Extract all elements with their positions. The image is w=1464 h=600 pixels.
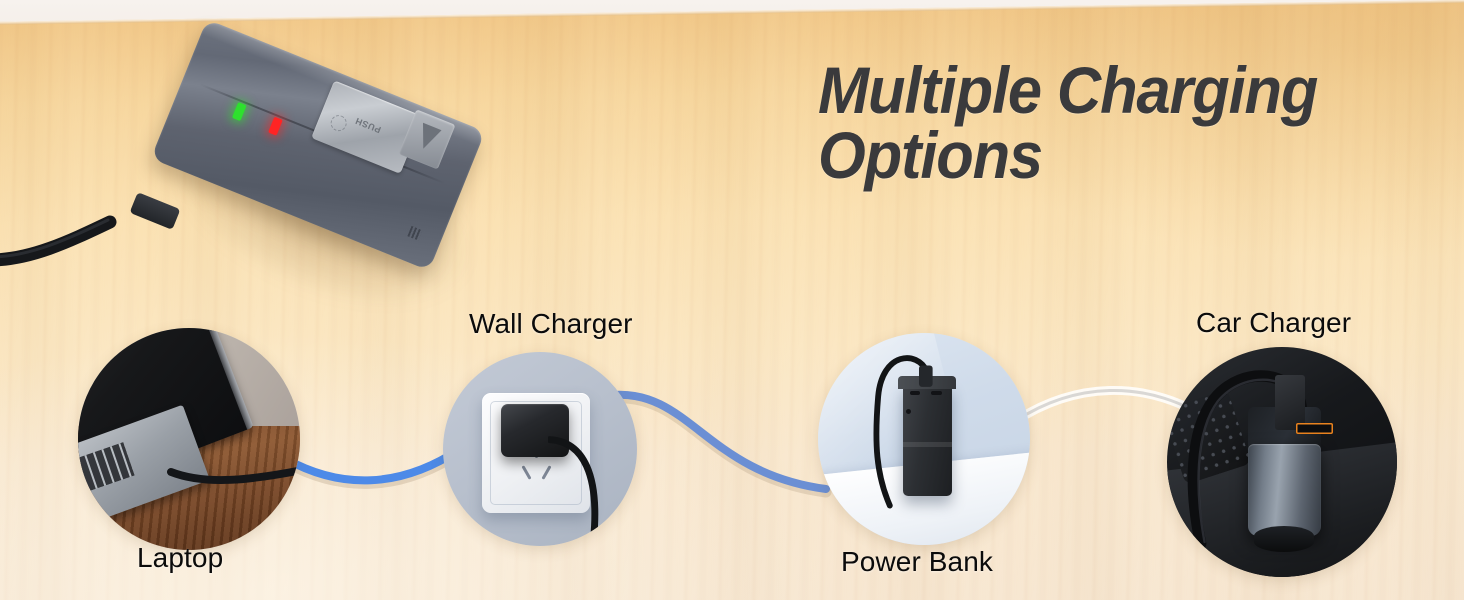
callout-label-car-charger: Car Charger xyxy=(1196,307,1351,339)
laptop-keyboard xyxy=(78,442,135,511)
callout-wall-charger[interactable] xyxy=(443,352,637,546)
callout-label-power-bank: Power Bank xyxy=(841,546,993,578)
wall-charger-cable xyxy=(548,430,637,543)
push-clip: PUSH xyxy=(311,80,423,173)
headline-line-2: Options xyxy=(818,123,1376,188)
callout-power-bank[interactable] xyxy=(818,333,1030,545)
push-label: PUSH xyxy=(354,115,383,134)
car-charger-base xyxy=(1254,526,1314,551)
power-bank-cable xyxy=(856,346,945,511)
car-charger-barrel xyxy=(1248,444,1322,536)
clip-ring-icon xyxy=(328,112,349,133)
car-charger-plug xyxy=(1275,375,1305,430)
green-led xyxy=(232,102,247,121)
callout-label-laptop: Laptop xyxy=(137,542,223,574)
promo-banner: Multiple Charging Options PUSH xyxy=(0,0,1464,600)
car-charger-usb-port xyxy=(1296,423,1333,435)
callout-laptop[interactable] xyxy=(78,328,300,550)
laptop-cable xyxy=(167,452,300,492)
page-title: Multiple Charging Options xyxy=(818,58,1376,187)
product-device: PUSH xyxy=(130,48,510,298)
headline-line-1: Multiple Charging xyxy=(818,53,1317,127)
callout-label-wall-charger: Wall Charger xyxy=(469,308,633,340)
vent-grille-icon xyxy=(407,226,422,241)
callout-car-charger[interactable] xyxy=(1167,347,1397,577)
red-led xyxy=(268,116,283,135)
